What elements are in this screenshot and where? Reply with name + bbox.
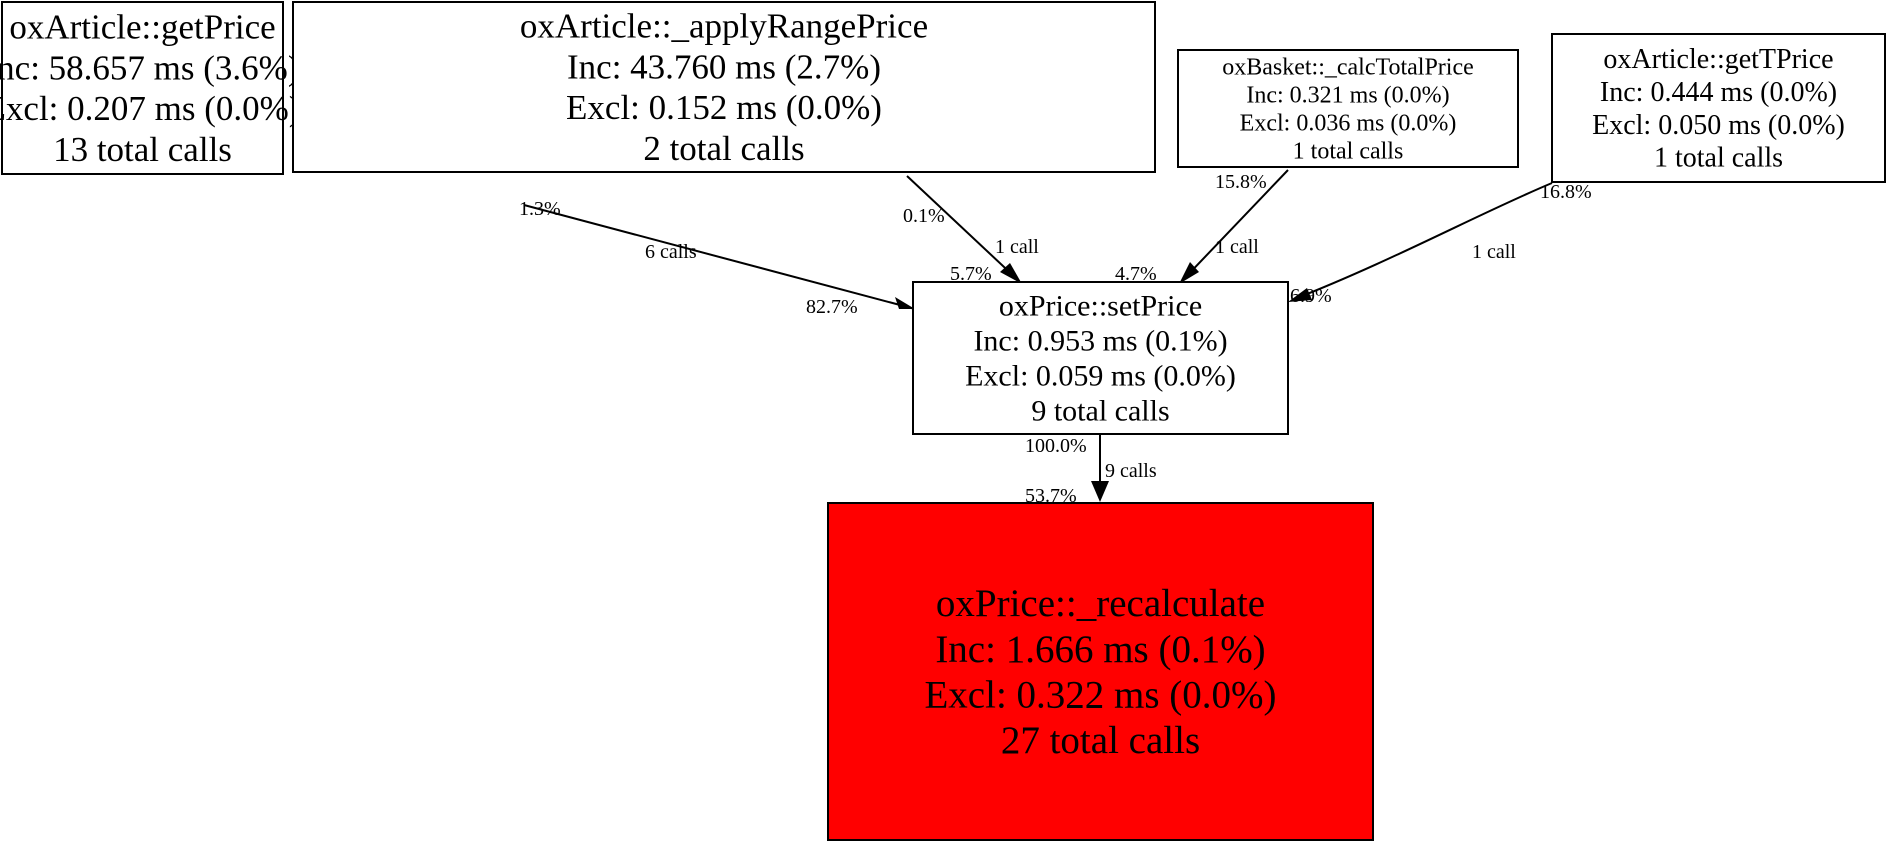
graph-node-getPrice[interactable]: oxArticle::getPriceInc: 58.657 ms (3.6%)… [0,2,300,174]
graph-edge: 16.8%1 call6.9% [1288,181,1592,307]
node-title: oxBasket::_calcTotalPrice [1222,54,1474,80]
node-title: oxPrice::setPrice [999,289,1202,322]
node-total-calls: 2 total calls [643,129,804,168]
node-total-calls: 1 total calls [1293,139,1404,165]
node-inclusive-time: Inc: 43.760 ms (2.7%) [567,47,881,86]
edge-source-percent-label: 100.0% [1025,435,1087,457]
edge-calls-label: 6 calls [645,241,697,263]
node-inclusive-time: Inc: 1.666 ms (0.1%) [935,628,1265,671]
graph-edge: 0.1%1 call5.7% [903,176,1039,285]
node-exclusive-time: Excl: 0.152 ms (0.0%) [566,88,882,127]
node-title: oxArticle::getTPrice [1603,44,1833,75]
edge-calls-label: 1 call [995,236,1039,258]
edge-source-percent-label: 15.8% [1215,171,1267,193]
graph-node-recalculate[interactable]: oxPrice::_recalculateInc: 1.666 ms (0.1%… [828,503,1373,840]
call-graph-diagram: 1.3%6 calls82.7%0.1%1 call5.7%15.8%1 cal… [0,0,1897,845]
edge-line [524,205,915,309]
node-inclusive-time: Inc: 0.444 ms (0.0%) [1600,77,1837,108]
node-title: oxArticle::getPrice [9,7,275,46]
node-total-calls: 27 total calls [1001,719,1200,762]
edge-arrowhead [1091,481,1109,502]
node-inclusive-time: Inc: 58.657 ms (3.6%) [0,48,299,87]
node-title: oxPrice::_recalculate [936,582,1265,625]
node-total-calls: 9 total calls [1031,395,1169,428]
graph-node-getTPrice[interactable]: oxArticle::getTPriceInc: 0.444 ms (0.0%)… [1552,34,1885,182]
node-exclusive-time: Excl: 0.059 ms (0.0%) [965,360,1236,393]
edge-source-percent-label: 1.3% [519,198,561,220]
edge-target-percent-label: 6.9% [1290,285,1332,307]
graph-edge: 1.3%6 calls82.7% [519,198,915,318]
node-exclusive-time: Excl: 0.050 ms (0.0%) [1592,110,1845,141]
graph-node-setPrice[interactable]: oxPrice::setPriceInc: 0.953 ms (0.1%)Exc… [913,282,1288,434]
edge-target-percent-label: 82.7% [806,296,858,318]
graph-node-applyRangePrice[interactable]: oxArticle::_applyRangePriceInc: 43.760 m… [293,2,1155,172]
node-inclusive-time: Inc: 0.321 ms (0.0%) [1246,83,1449,109]
node-total-calls: 13 total calls [53,130,232,169]
nodes-layer: oxArticle::getPriceInc: 58.657 ms (3.6%)… [0,2,1885,840]
graph-edge: 15.8%1 call4.7% [1115,170,1288,285]
edge-source-percent-label: 16.8% [1540,181,1592,203]
node-total-calls: 1 total calls [1654,143,1783,174]
edge-source-percent-label: 0.1% [903,205,945,227]
node-box[interactable] [828,503,1373,840]
edge-calls-label: 9 calls [1105,460,1157,482]
edge-calls-label: 1 call [1472,241,1516,263]
graph-edge: 100.0%9 calls53.7% [1025,434,1157,507]
edge-calls-label: 1 call [1215,236,1259,258]
node-title: oxArticle::_applyRangePrice [520,6,928,45]
node-exclusive-time: Excl: 0.322 ms (0.0%) [924,673,1276,716]
node-exclusive-time: Excl: 0.207 ms (0.0%) [0,89,300,128]
graph-node-calcTotalPrice[interactable]: oxBasket::_calcTotalPriceInc: 0.321 ms (… [1178,50,1518,167]
node-inclusive-time: Inc: 0.953 ms (0.1%) [973,325,1227,358]
node-exclusive-time: Excl: 0.036 ms (0.0%) [1240,111,1457,137]
